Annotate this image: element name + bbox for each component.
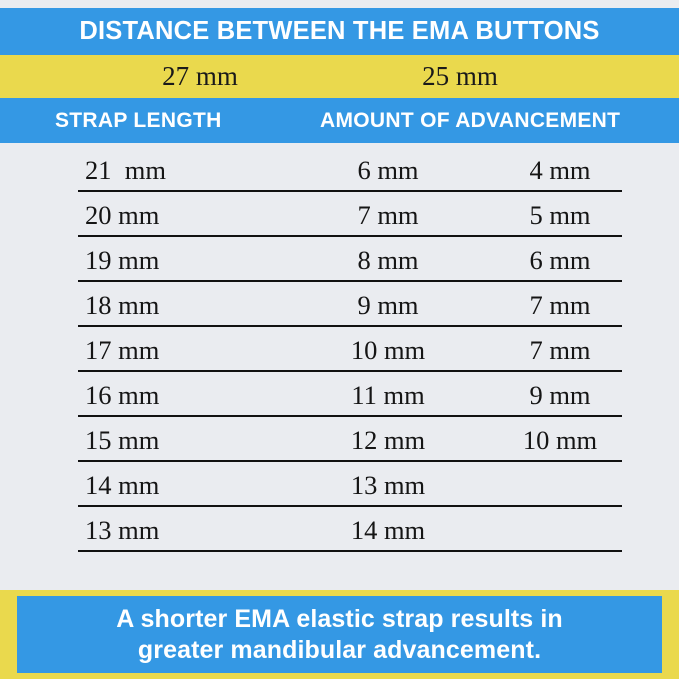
column-header-strap-length: STRAP LENGTH	[55, 98, 222, 143]
table-row: 15 mm 12 mm 10 mm	[0, 422, 679, 467]
cell-advancement-27mm: 13 mm	[300, 467, 476, 503]
cell-advancement-25mm: 6 mm	[484, 242, 636, 278]
button-distance-band: 27 mm 25 mm	[0, 55, 679, 98]
cell-advancement-25mm	[484, 467, 636, 503]
cell-advancement-25mm: 5 mm	[484, 197, 636, 233]
row-divider	[78, 505, 622, 507]
cell-advancement-27mm: 7 mm	[300, 197, 476, 233]
cell-advancement-27mm: 12 mm	[300, 422, 476, 458]
row-divider	[78, 460, 622, 462]
cell-advancement-27mm: 11 mm	[300, 377, 476, 413]
cell-advancement-27mm: 8 mm	[300, 242, 476, 278]
button-distance-27mm: 27 mm	[120, 55, 280, 98]
table-row: 18 mm 9 mm 7 mm	[0, 287, 679, 332]
cell-strap-length: 16 mm	[85, 377, 285, 413]
cell-strap-length: 13 mm	[85, 512, 285, 548]
table-row: 20 mm 7 mm 5 mm	[0, 197, 679, 242]
footer-callout-band: A shorter EMA elastic strap results in g…	[0, 590, 679, 679]
row-divider	[78, 415, 622, 417]
row-divider	[78, 370, 622, 372]
footer-text-line-1: A shorter EMA elastic strap results in	[116, 604, 563, 635]
table-row: 14 mm 13 mm	[0, 467, 679, 512]
cell-strap-length: 18 mm	[85, 287, 285, 323]
table-row: 21 mm 6 mm 4 mm	[0, 152, 679, 197]
table-row: 17 mm 10 mm 7 mm	[0, 332, 679, 377]
page-title: DISTANCE BETWEEN THE EMA BUTTONS	[79, 19, 599, 45]
cell-strap-length: 17 mm	[85, 332, 285, 368]
row-divider	[78, 280, 622, 282]
cell-advancement-27mm: 14 mm	[300, 512, 476, 548]
cell-advancement-25mm: 4 mm	[484, 152, 636, 188]
cell-advancement-25mm: 7 mm	[484, 287, 636, 323]
cell-advancement-25mm: 7 mm	[484, 332, 636, 368]
cell-strap-length: 20 mm	[85, 197, 285, 233]
ema-strap-advancement-infographic: DISTANCE BETWEEN THE EMA BUTTONS 27 mm 2…	[0, 0, 679, 679]
footer-callout-box: A shorter EMA elastic strap results in g…	[17, 596, 662, 673]
cell-strap-length: 19 mm	[85, 242, 285, 278]
button-distance-25mm: 25 mm	[380, 55, 540, 98]
cell-advancement-25mm	[484, 512, 636, 548]
cell-strap-length: 21 mm	[85, 152, 285, 188]
row-divider	[78, 190, 622, 192]
table-row: 19 mm 8 mm 6 mm	[0, 242, 679, 287]
cell-strap-length: 15 mm	[85, 422, 285, 458]
cell-strap-length: 14 mm	[85, 467, 285, 503]
column-header-band: STRAP LENGTH AMOUNT OF ADVANCEMENT	[0, 98, 679, 143]
table-row: 13 mm 14 mm	[0, 512, 679, 557]
title-band: DISTANCE BETWEEN THE EMA BUTTONS	[0, 8, 679, 55]
cell-advancement-27mm: 9 mm	[300, 287, 476, 323]
column-header-amount-of-advancement: AMOUNT OF ADVANCEMENT	[320, 98, 620, 143]
row-divider	[78, 550, 622, 552]
footer-text-line-2: greater mandibular advancement.	[138, 635, 541, 666]
cell-advancement-27mm: 6 mm	[300, 152, 476, 188]
advancement-table: 21 mm 6 mm 4 mm 20 mm 7 mm 5 mm 19 mm 8 …	[0, 152, 679, 557]
table-row: 16 mm 11 mm 9 mm	[0, 377, 679, 422]
row-divider	[78, 325, 622, 327]
cell-advancement-27mm: 10 mm	[300, 332, 476, 368]
cell-advancement-25mm: 10 mm	[484, 422, 636, 458]
row-divider	[78, 235, 622, 237]
cell-advancement-25mm: 9 mm	[484, 377, 636, 413]
